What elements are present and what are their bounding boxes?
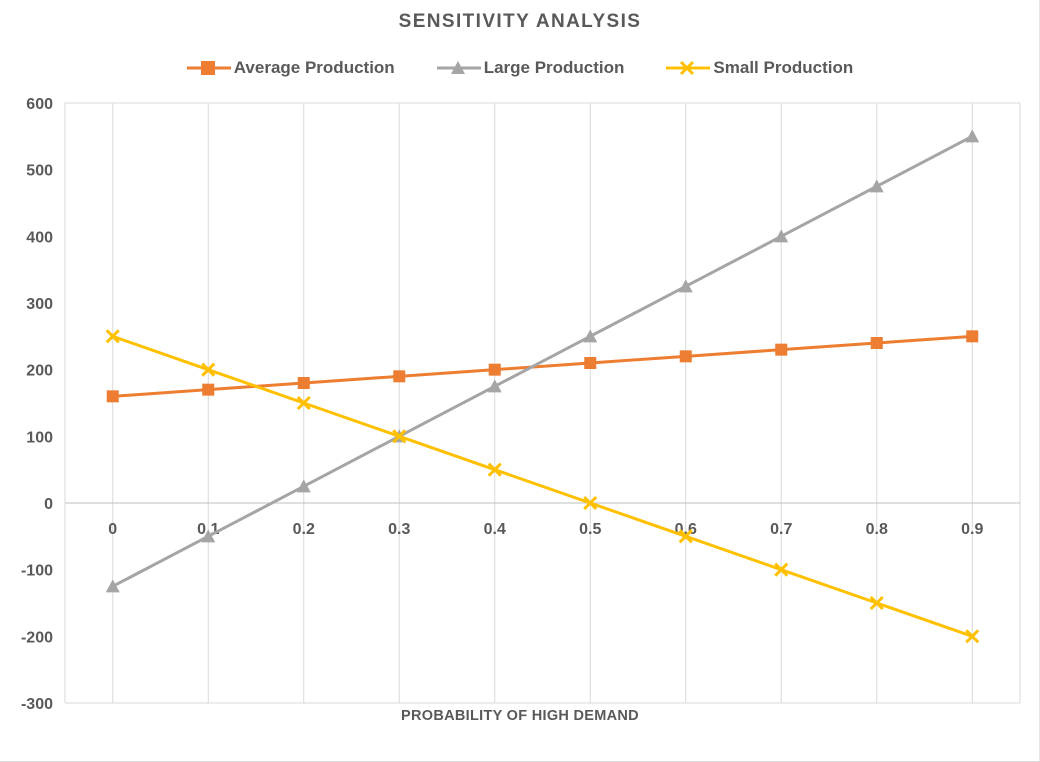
svg-text:500: 500 xyxy=(26,163,53,180)
chart-container: SENSITIVITY ANALYSIS Average Production … xyxy=(0,0,1040,762)
svg-text:100: 100 xyxy=(26,429,53,446)
svg-text:200: 200 xyxy=(26,363,53,380)
svg-text:0.9: 0.9 xyxy=(961,521,983,538)
svg-text:0.3: 0.3 xyxy=(388,521,410,538)
svg-text:0.7: 0.7 xyxy=(770,521,792,538)
svg-text:0.2: 0.2 xyxy=(293,521,315,538)
svg-text:600: 600 xyxy=(26,96,53,113)
x-axis-tick-labels: 00.10.20.30.40.50.60.70.80.9 xyxy=(108,521,983,538)
svg-text:300: 300 xyxy=(26,296,53,313)
series-lines xyxy=(106,129,980,642)
x-axis-title: PROBABILITY OF HIGH DEMAND xyxy=(0,708,1040,724)
svg-text:-100: -100 xyxy=(21,563,53,580)
plot-area: 6005004003002001000-100-200-300 00.10.20… xyxy=(0,0,1040,762)
y-axis-tick-labels: 6005004003002001000-100-200-300 xyxy=(21,96,53,713)
svg-text:0.4: 0.4 xyxy=(484,521,506,538)
svg-text:0.5: 0.5 xyxy=(579,521,601,538)
svg-text:-200: -200 xyxy=(21,629,53,646)
svg-text:400: 400 xyxy=(26,229,53,246)
gridlines xyxy=(65,103,1020,703)
svg-text:0: 0 xyxy=(44,496,53,513)
svg-text:0.8: 0.8 xyxy=(866,521,888,538)
svg-text:0: 0 xyxy=(108,521,117,538)
